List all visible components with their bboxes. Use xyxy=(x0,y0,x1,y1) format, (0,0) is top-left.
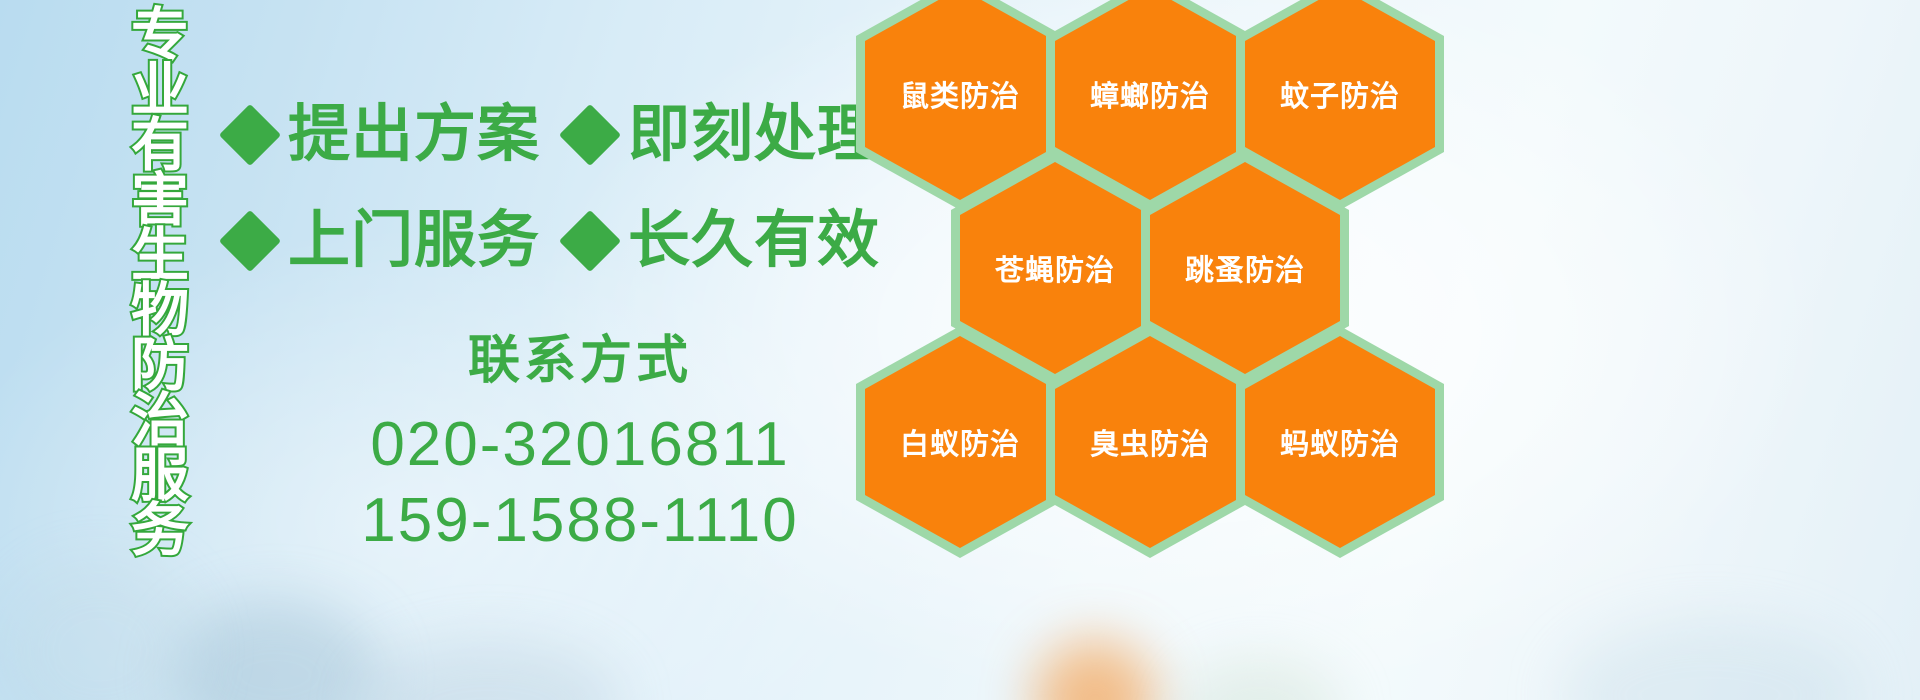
vertical-headline-char: 治 xyxy=(131,393,189,448)
hex-cell-termite[interactable]: 白蚁防治 xyxy=(856,326,1064,558)
vertical-headline-char: 服 xyxy=(131,448,189,503)
vertical-headline-char: 害 xyxy=(131,173,189,228)
background-blob xyxy=(360,640,620,700)
contact-title: 联系方式 xyxy=(300,318,860,393)
background-blob xyxy=(1560,620,1860,700)
phone-number-mobile[interactable]: 159-1588-1110 xyxy=(300,483,860,559)
hex-label: 鼠类防治 xyxy=(900,73,1020,115)
feature-list: 提出方案 即刻处理 上门服务 长久有效 xyxy=(228,82,868,294)
feature-label: 上门服务 xyxy=(288,210,540,272)
hex-label: 臭虫防治 xyxy=(1090,421,1210,463)
vertical-headline-char: 有 xyxy=(131,118,189,173)
feature-row: 提出方案 即刻处理 xyxy=(228,82,868,188)
diamond-icon xyxy=(219,210,281,272)
hex-cell-ant[interactable]: 蚂蚁防治 xyxy=(1236,326,1444,558)
hex-label: 蚂蚁防治 xyxy=(1280,421,1400,463)
hex-label: 白蚁防治 xyxy=(900,421,1020,463)
phone-number-landline[interactable]: 020-32016811 xyxy=(300,407,860,483)
vertical-headline-char: 务 xyxy=(131,503,189,558)
background-blob xyxy=(170,600,380,700)
vertical-headline-char: 生 xyxy=(131,228,189,283)
diamond-icon xyxy=(559,210,621,272)
hex-cell-bedbug[interactable]: 臭虫防治 xyxy=(1046,326,1254,558)
vertical-headline: 专 业 有 害 生 物 防 治 服 务 xyxy=(104,8,216,568)
contact-block: 联系方式 020-32016811 159-1588-1110 xyxy=(300,318,860,559)
vertical-headline-char: 专 xyxy=(131,8,189,63)
hex-label: 蟑螂防治 xyxy=(1090,73,1210,115)
vertical-headline-char: 业 xyxy=(131,63,189,118)
hex-label: 苍蝇防治 xyxy=(995,247,1115,289)
feature-item: 上门服务 xyxy=(228,210,540,272)
hex-label: 蚊子防治 xyxy=(1280,73,1400,115)
background-blob xyxy=(0,560,200,700)
feature-item: 提出方案 xyxy=(228,104,540,166)
feature-row: 上门服务 长久有效 xyxy=(228,188,868,294)
feature-label: 即刻处理 xyxy=(628,104,880,166)
feature-item: 长久有效 xyxy=(568,210,880,272)
feature-item: 即刻处理 xyxy=(568,104,880,166)
pest-control-banner: 专 业 有 害 生 物 防 治 服 务 提出方案 即刻处理 上门服务 xyxy=(0,0,1920,700)
hex-label: 跳蚤防治 xyxy=(1185,247,1305,289)
feature-label: 长久有效 xyxy=(628,210,880,272)
diamond-icon xyxy=(219,104,281,166)
vertical-headline-char: 防 xyxy=(131,338,189,393)
diamond-icon xyxy=(559,104,621,166)
vertical-headline-char: 物 xyxy=(131,283,189,338)
feature-label: 提出方案 xyxy=(288,104,540,166)
service-hex-grid: 鼠类防治 蟑螂防治 蚊子防治 苍蝇防治 跳蚤防治 xyxy=(856,0,1476,700)
